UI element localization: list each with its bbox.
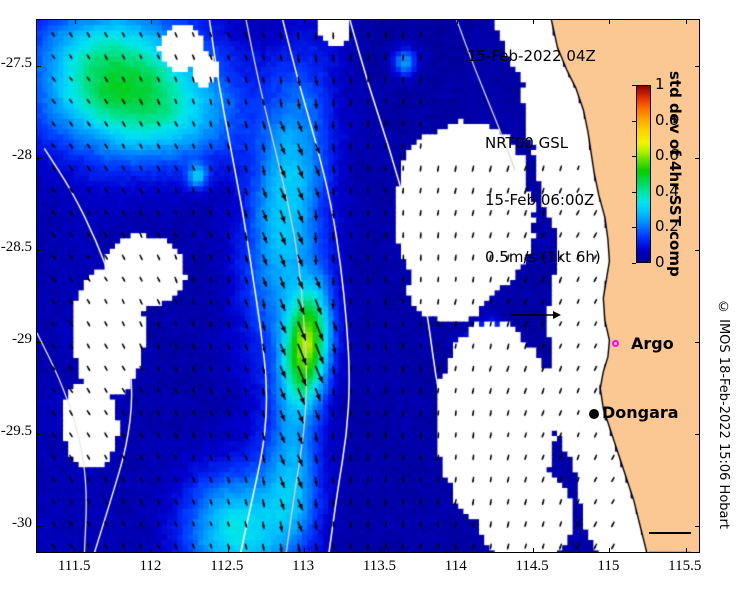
reference-arrow-icon xyxy=(509,306,569,324)
x-axis-tick-label: 114 xyxy=(426,558,486,575)
colorbar-gradient xyxy=(636,85,651,263)
x-axis-tick xyxy=(151,19,152,24)
y-axis-tick xyxy=(36,434,41,435)
colorbar-tick xyxy=(632,121,636,122)
x-axis-tick xyxy=(686,548,687,553)
x-axis-tick-label: 113.5 xyxy=(349,558,409,575)
y-axis-tick-label: -30 xyxy=(0,515,32,532)
x-axis-tick-label: 114.5 xyxy=(502,558,562,575)
x-axis-tick xyxy=(228,548,229,553)
y-axis-tick xyxy=(36,158,41,159)
x-axis-tick xyxy=(609,19,610,24)
x-axis-tick-label: 111.5 xyxy=(44,558,104,575)
argo-label: Argo xyxy=(631,334,674,353)
x-axis-tick xyxy=(304,548,305,553)
colorbar-tick xyxy=(632,263,636,264)
x-axis-tick-label: 115.5 xyxy=(655,558,715,575)
colorbar-tick xyxy=(632,192,636,193)
figure-canvas: 15-Feb-2022 04Z NRT00 GSL 15-Feb 06:00Z … xyxy=(0,0,740,592)
y-axis-tick-label: -29.5 xyxy=(0,423,32,440)
x-axis-tick xyxy=(533,548,534,553)
y-axis-tick xyxy=(695,342,700,343)
colorbar-title: std dev of 4hr SST comp xyxy=(666,85,684,263)
x-axis-tick xyxy=(457,548,458,553)
x-axis-tick-label: 112.5 xyxy=(197,558,257,575)
x-axis-tick xyxy=(228,19,229,24)
colorbar-tick xyxy=(632,227,636,228)
y-axis-tick xyxy=(36,66,41,67)
y-axis-tick xyxy=(695,250,700,251)
x-axis-tick xyxy=(533,19,534,24)
map-plot-area[interactable]: 15-Feb-2022 04Z NRT00 GSL 15-Feb 06:00Z … xyxy=(36,19,700,553)
y-axis-tick xyxy=(36,526,41,527)
y-axis-tick xyxy=(695,526,700,527)
y-axis-tick-label: -29 xyxy=(0,331,32,348)
x-axis-tick xyxy=(457,19,458,24)
x-axis-tick xyxy=(380,548,381,553)
x-axis-tick xyxy=(380,19,381,24)
colorbar[interactable]: 00.20.40.60.81 xyxy=(636,85,651,263)
colorbar-tick-label: 0 xyxy=(655,253,665,271)
copyright-notice: © IMOS 18-Feb-2022 15:06 Hobart xyxy=(716,300,731,529)
colorbar-tick-label: 1 xyxy=(655,75,665,93)
x-axis-tick xyxy=(75,548,76,553)
x-axis-tick-label: 112 xyxy=(120,558,180,575)
y-axis-tick-label: -27.5 xyxy=(0,55,32,72)
vector-source-label: NRT00 GSL xyxy=(485,134,601,153)
isobath-1000m-swatch xyxy=(649,551,691,553)
vector-time-label: 15-Feb 06:00Z xyxy=(485,191,601,210)
date-stamp: 15-Feb-2022 04Z xyxy=(467,47,596,65)
isobath-200m-swatch xyxy=(649,532,691,534)
colorbar-tick xyxy=(632,156,636,157)
colorbar-tick xyxy=(632,85,636,86)
x-axis-tick xyxy=(75,19,76,24)
y-axis-tick xyxy=(695,66,700,67)
y-axis-tick-label: -28.5 xyxy=(0,239,32,256)
y-axis-tick xyxy=(695,158,700,159)
x-axis-tick-label: 115 xyxy=(578,558,638,575)
dongara-label: Dongara xyxy=(602,403,679,422)
argo-marker-icon xyxy=(612,340,619,347)
y-axis-tick xyxy=(695,434,700,435)
vector-legend: NRT00 GSL 15-Feb 06:00Z 0.5m/s (1kt 6h) xyxy=(485,96,601,362)
x-axis-tick xyxy=(609,548,610,553)
y-axis-tick xyxy=(36,342,41,343)
y-axis-tick-label: -28 xyxy=(0,147,32,164)
x-axis-tick xyxy=(686,19,687,24)
x-axis-tick xyxy=(151,548,152,553)
dongara-marker-icon xyxy=(589,409,599,419)
x-axis-tick-label: 113 xyxy=(273,558,333,575)
x-axis-tick xyxy=(304,19,305,24)
y-axis-tick xyxy=(36,250,41,251)
vector-scale-label: 0.5m/s (1kt 6h) xyxy=(485,248,601,267)
